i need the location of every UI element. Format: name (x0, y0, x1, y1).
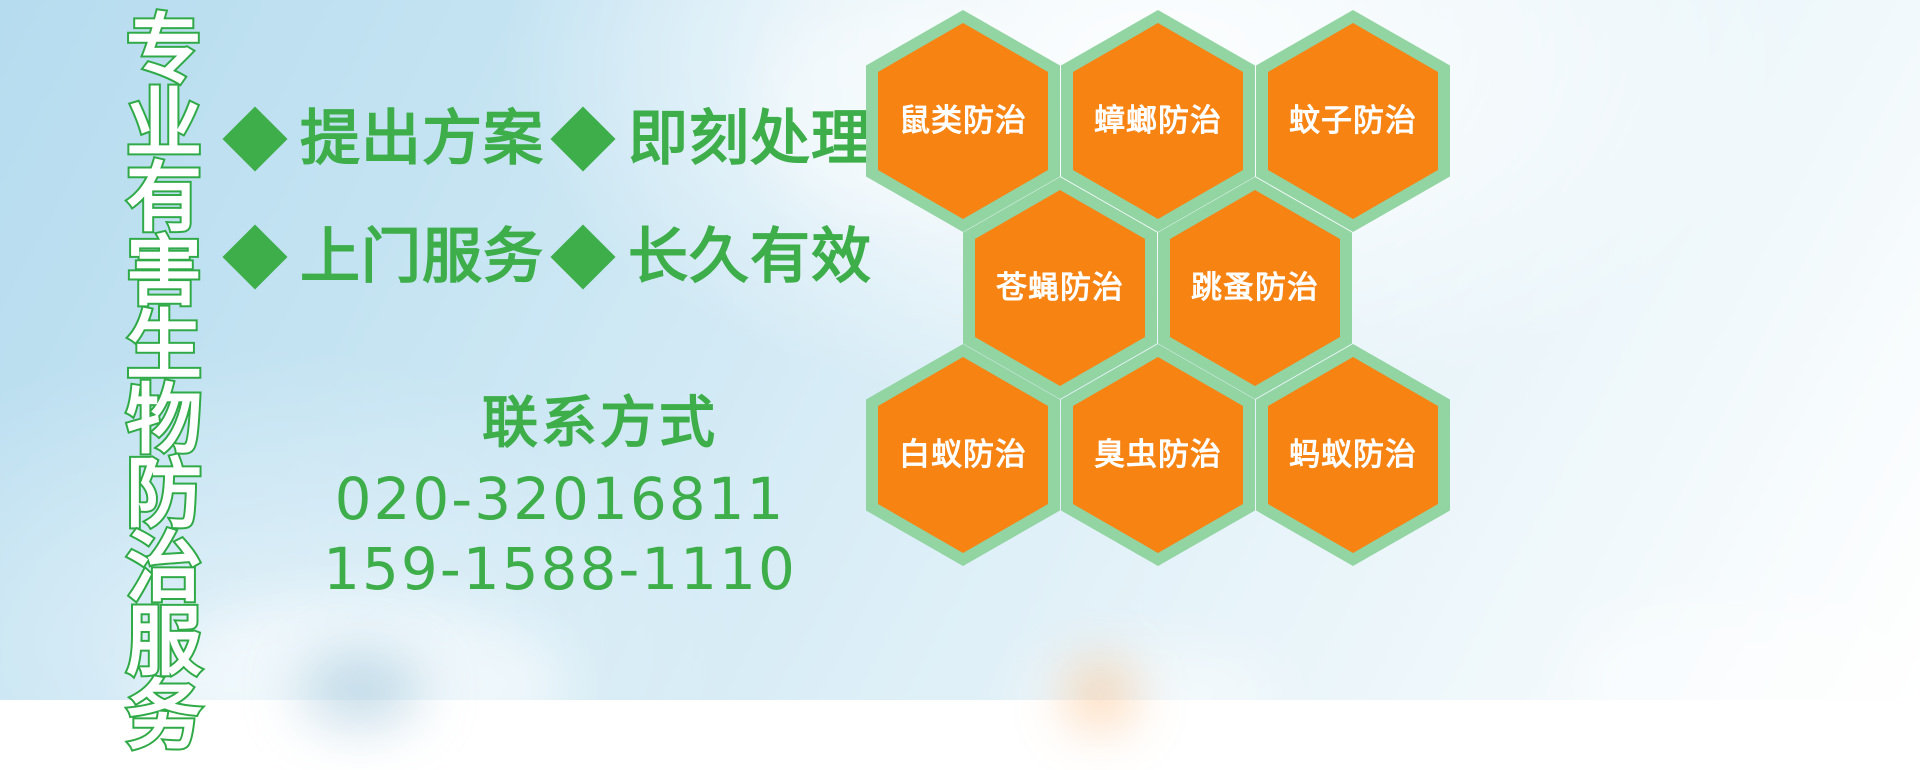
diamond-bullet-icon (222, 106, 287, 171)
feature-list: 提出方案 即刻处理 上门服务 长久有效 (232, 80, 872, 316)
background-haze-blob (1070, 665, 1130, 725)
feature-label: 长久有效 (628, 227, 872, 287)
feature-item: 即刻处理 (560, 109, 872, 169)
feature-row: 提出方案 即刻处理 (232, 80, 872, 198)
feature-label: 即刻处理 (628, 109, 872, 169)
background-haze-blob (300, 655, 420, 725)
contact-title: 联系方式 (300, 392, 820, 454)
service-hex-label: 蚊子防治 (1289, 104, 1417, 138)
vertical-headline-char: 治 (126, 532, 202, 606)
service-hex-label: 白蚁防治 (899, 438, 1027, 472)
vertical-headline-char: 生 (126, 310, 202, 384)
feature-item: 长久有效 (560, 227, 872, 287)
service-hex-label: 跳蚤防治 (1191, 271, 1319, 305)
feature-label: 提出方案 (300, 109, 544, 169)
vertical-headline-char: 业 (126, 88, 202, 162)
contact-block: 联系方式 020-32016811 159-1588-1110 (300, 392, 820, 604)
vertical-headline-char: 服 (126, 606, 202, 680)
background-haze-blob (1020, 650, 1280, 740)
background-haze-blob (1560, 600, 1920, 760)
diamond-bullet-icon (550, 224, 615, 289)
vertical-headline-char: 物 (126, 384, 202, 458)
vertical-headline-char: 务 (126, 680, 202, 754)
feature-item: 上门服务 (232, 227, 544, 287)
vertical-headline-char: 有 (126, 162, 202, 236)
background-haze-blob (150, 600, 570, 770)
service-honeycomb: 鼠类防治 蟑螂防治 蚊子防治 苍蝇防治 跳蚤防治 白蚁防治 臭虫防治 (858, 2, 1458, 562)
contact-phone-mobile[interactable]: 159-1588-1110 (300, 534, 820, 604)
service-hex-label: 臭虫防治 (1094, 438, 1222, 472)
feature-row: 上门服务 长久有效 (232, 198, 872, 316)
vertical-headline-char: 害 (126, 236, 202, 310)
service-hex-label: 苍蝇防治 (996, 271, 1124, 305)
diamond-bullet-icon (550, 106, 615, 171)
feature-item: 提出方案 (232, 109, 544, 169)
pest-control-banner: 专 业 有 害 生 物 防 治 服 务 提出方案 即刻处理 上门服务 (0, 0, 1920, 700)
contact-phone-landline[interactable]: 020-32016811 (300, 464, 820, 534)
feature-label: 上门服务 (300, 227, 544, 287)
service-hex-label: 蚂蚁防治 (1289, 438, 1417, 472)
service-hex-label: 鼠类防治 (899, 104, 1027, 138)
vertical-headline-char: 防 (126, 458, 202, 532)
service-hex-label: 蟑螂防治 (1094, 104, 1222, 138)
diamond-bullet-icon (222, 224, 287, 289)
vertical-headline: 专 业 有 害 生 物 防 治 服 务 (118, 14, 210, 686)
vertical-headline-char: 专 (126, 14, 202, 88)
